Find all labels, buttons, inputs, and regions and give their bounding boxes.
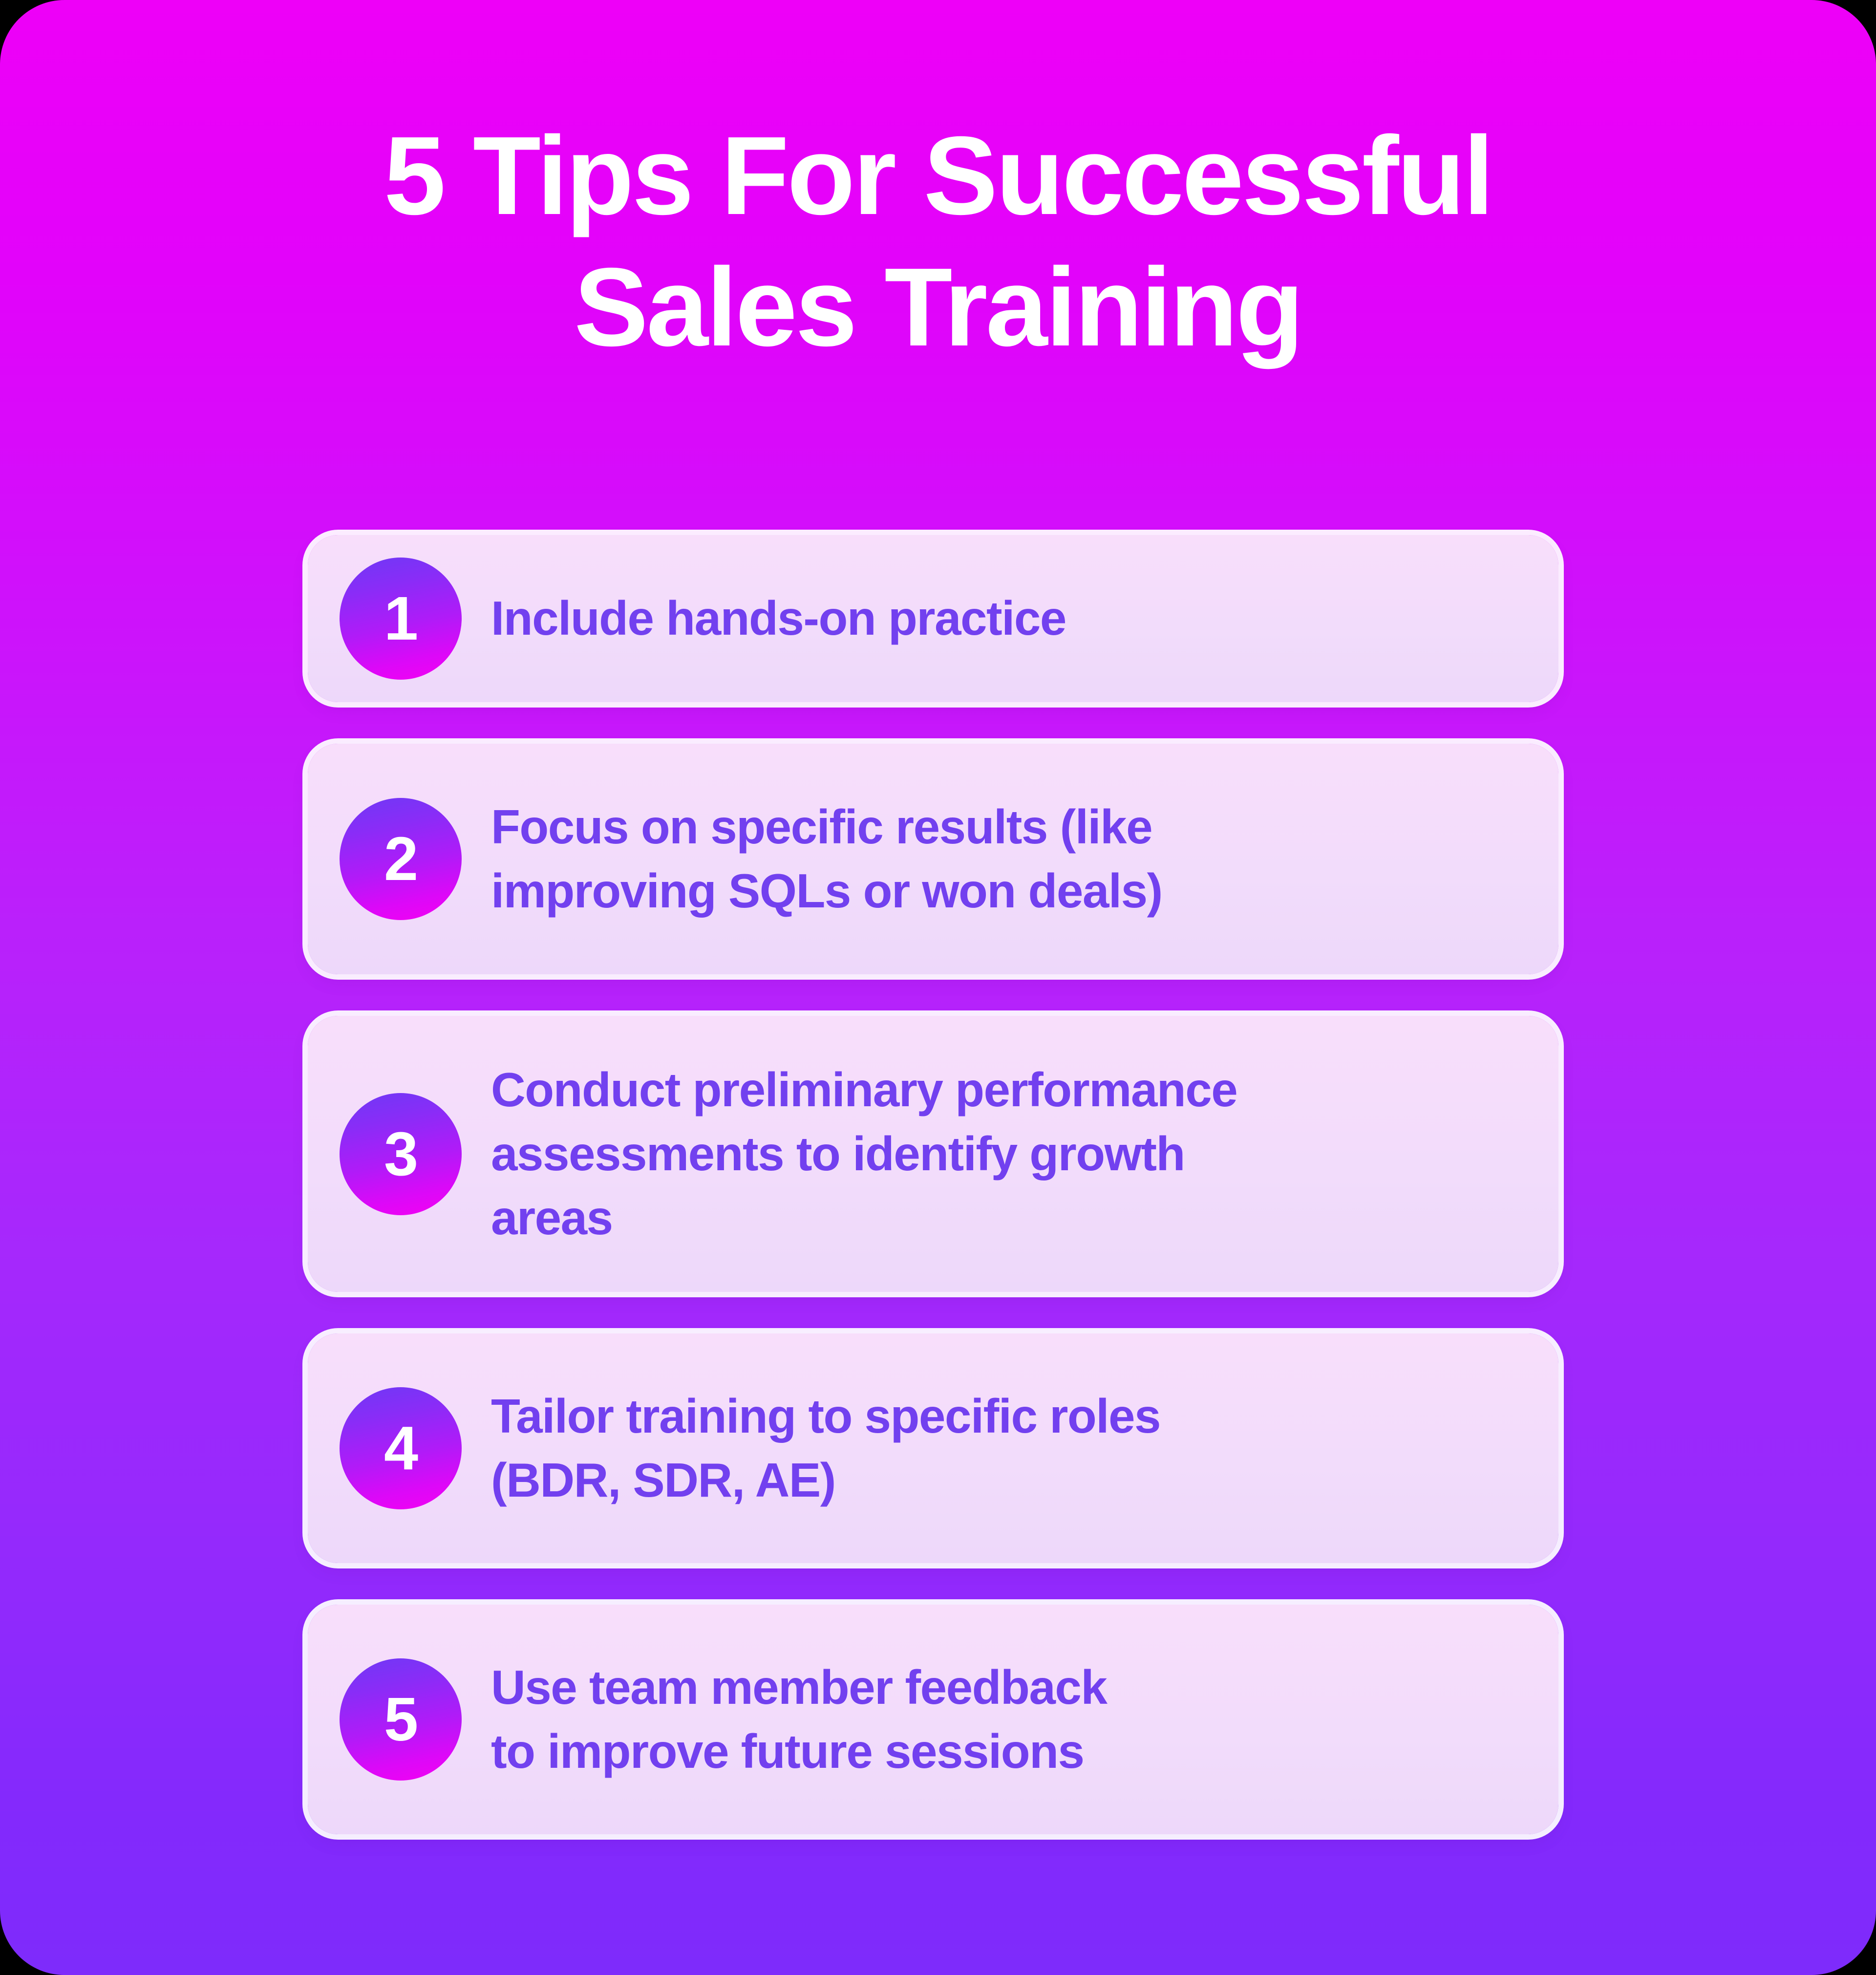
tip-number-4: 4 bbox=[384, 1417, 417, 1479]
tip-number-badge-2: 2 bbox=[340, 798, 462, 920]
tip-text-3: Conduct preliminary performance assessme… bbox=[491, 1058, 1237, 1250]
page-title: 5 Tips For Successful Sales Training bbox=[0, 110, 1876, 373]
tip-text-1: Include hands-on practice bbox=[491, 586, 1066, 650]
tip-number-badge-1: 1 bbox=[340, 558, 462, 680]
tip-number-badge-3: 3 bbox=[340, 1093, 462, 1215]
tip-text-4: Tailor training to specific roles (BDR, … bbox=[491, 1384, 1160, 1513]
tip-text-2: Focus on specific results (like improvin… bbox=[491, 795, 1162, 923]
tip-text-5: Use team member feedback to improve futu… bbox=[491, 1655, 1107, 1784]
tip-card-3: 3 Conduct preliminary performance assess… bbox=[308, 1016, 1558, 1292]
tip-card-5: 5 Use team member feedback to improve fu… bbox=[308, 1605, 1558, 1834]
tip-number-2: 2 bbox=[384, 828, 417, 890]
tip-card-2: 2 Focus on specific results (like improv… bbox=[308, 744, 1558, 974]
tip-number-5: 5 bbox=[384, 1689, 417, 1750]
tip-card-1: 1 Include hands-on practice bbox=[308, 535, 1558, 702]
tip-number-badge-4: 4 bbox=[340, 1387, 462, 1509]
tip-number-3: 3 bbox=[384, 1123, 417, 1185]
page-title-line-1: 5 Tips For Successful bbox=[0, 110, 1876, 242]
page-title-line-2: Sales Training bbox=[0, 242, 1876, 373]
tip-number-badge-5: 5 bbox=[340, 1658, 462, 1781]
tips-list: 1 Include hands-on practice 2 Focus on s… bbox=[308, 535, 1558, 1834]
tip-number-1: 1 bbox=[384, 588, 417, 649]
tip-card-4: 4 Tailor training to specific roles (BDR… bbox=[308, 1333, 1558, 1563]
infographic-poster: 5 Tips For Successful Sales Training 1 I… bbox=[0, 0, 1876, 1975]
